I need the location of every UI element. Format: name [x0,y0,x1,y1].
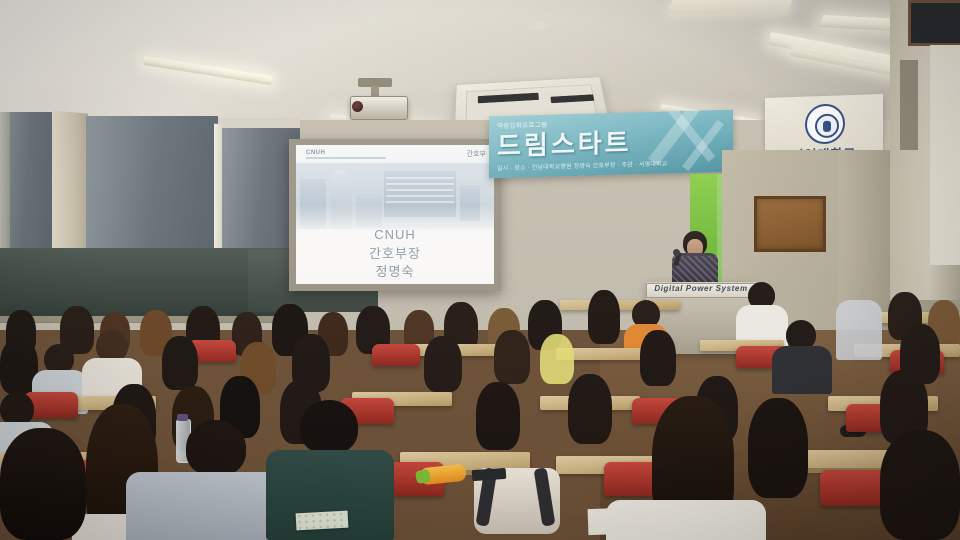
smartphone [472,468,507,481]
bottle-cap [177,414,188,421]
ceiling-light-1 [667,0,792,14]
slide-corner-label: 간호부 [467,149,486,159]
notice-board [754,196,826,252]
slide-logo-subline [306,157,386,159]
slide-line-3: 정명숙 [296,261,494,280]
emblem-inner-ring [815,113,839,138]
slide-logo: CNUH [306,150,325,156]
lecture-hall-photo: CNUH 간호부 CNUH 간호부장 정명숙 역량강화프로그램 드림스타트 일시… [0,0,960,540]
projection-screen: CNUH 간호부 CNUH 간호부장 정명숙 [296,145,494,284]
event-banner: 역량강화프로그램 드림스타트 일시 · 장소 · 전남대학교병원 정명숙 간호부… [489,110,733,179]
podium-plate-text: Digital Power System [648,284,754,293]
slide-line-2: 간호부장 [296,243,494,262]
pencil-case-tag [415,469,431,484]
slide-line-1: CNUH [296,227,494,242]
wall-pillar-2 [0,112,10,262]
far-wall-light-panel [930,45,960,265]
handout-paper [588,507,653,535]
notebook-pattern [296,511,349,531]
chair-row-b-2 [372,344,420,366]
microphone-head [673,249,680,256]
wall-monitor [908,0,960,46]
wall-speaker-icon [900,60,918,150]
emblem-core [823,121,831,132]
banner-title: 드림스타트 [497,122,632,163]
projector-lens [352,101,363,112]
desk-back-1 [560,300,680,310]
university-emblem-icon [805,103,845,144]
smoke-detector-icon [527,22,549,31]
